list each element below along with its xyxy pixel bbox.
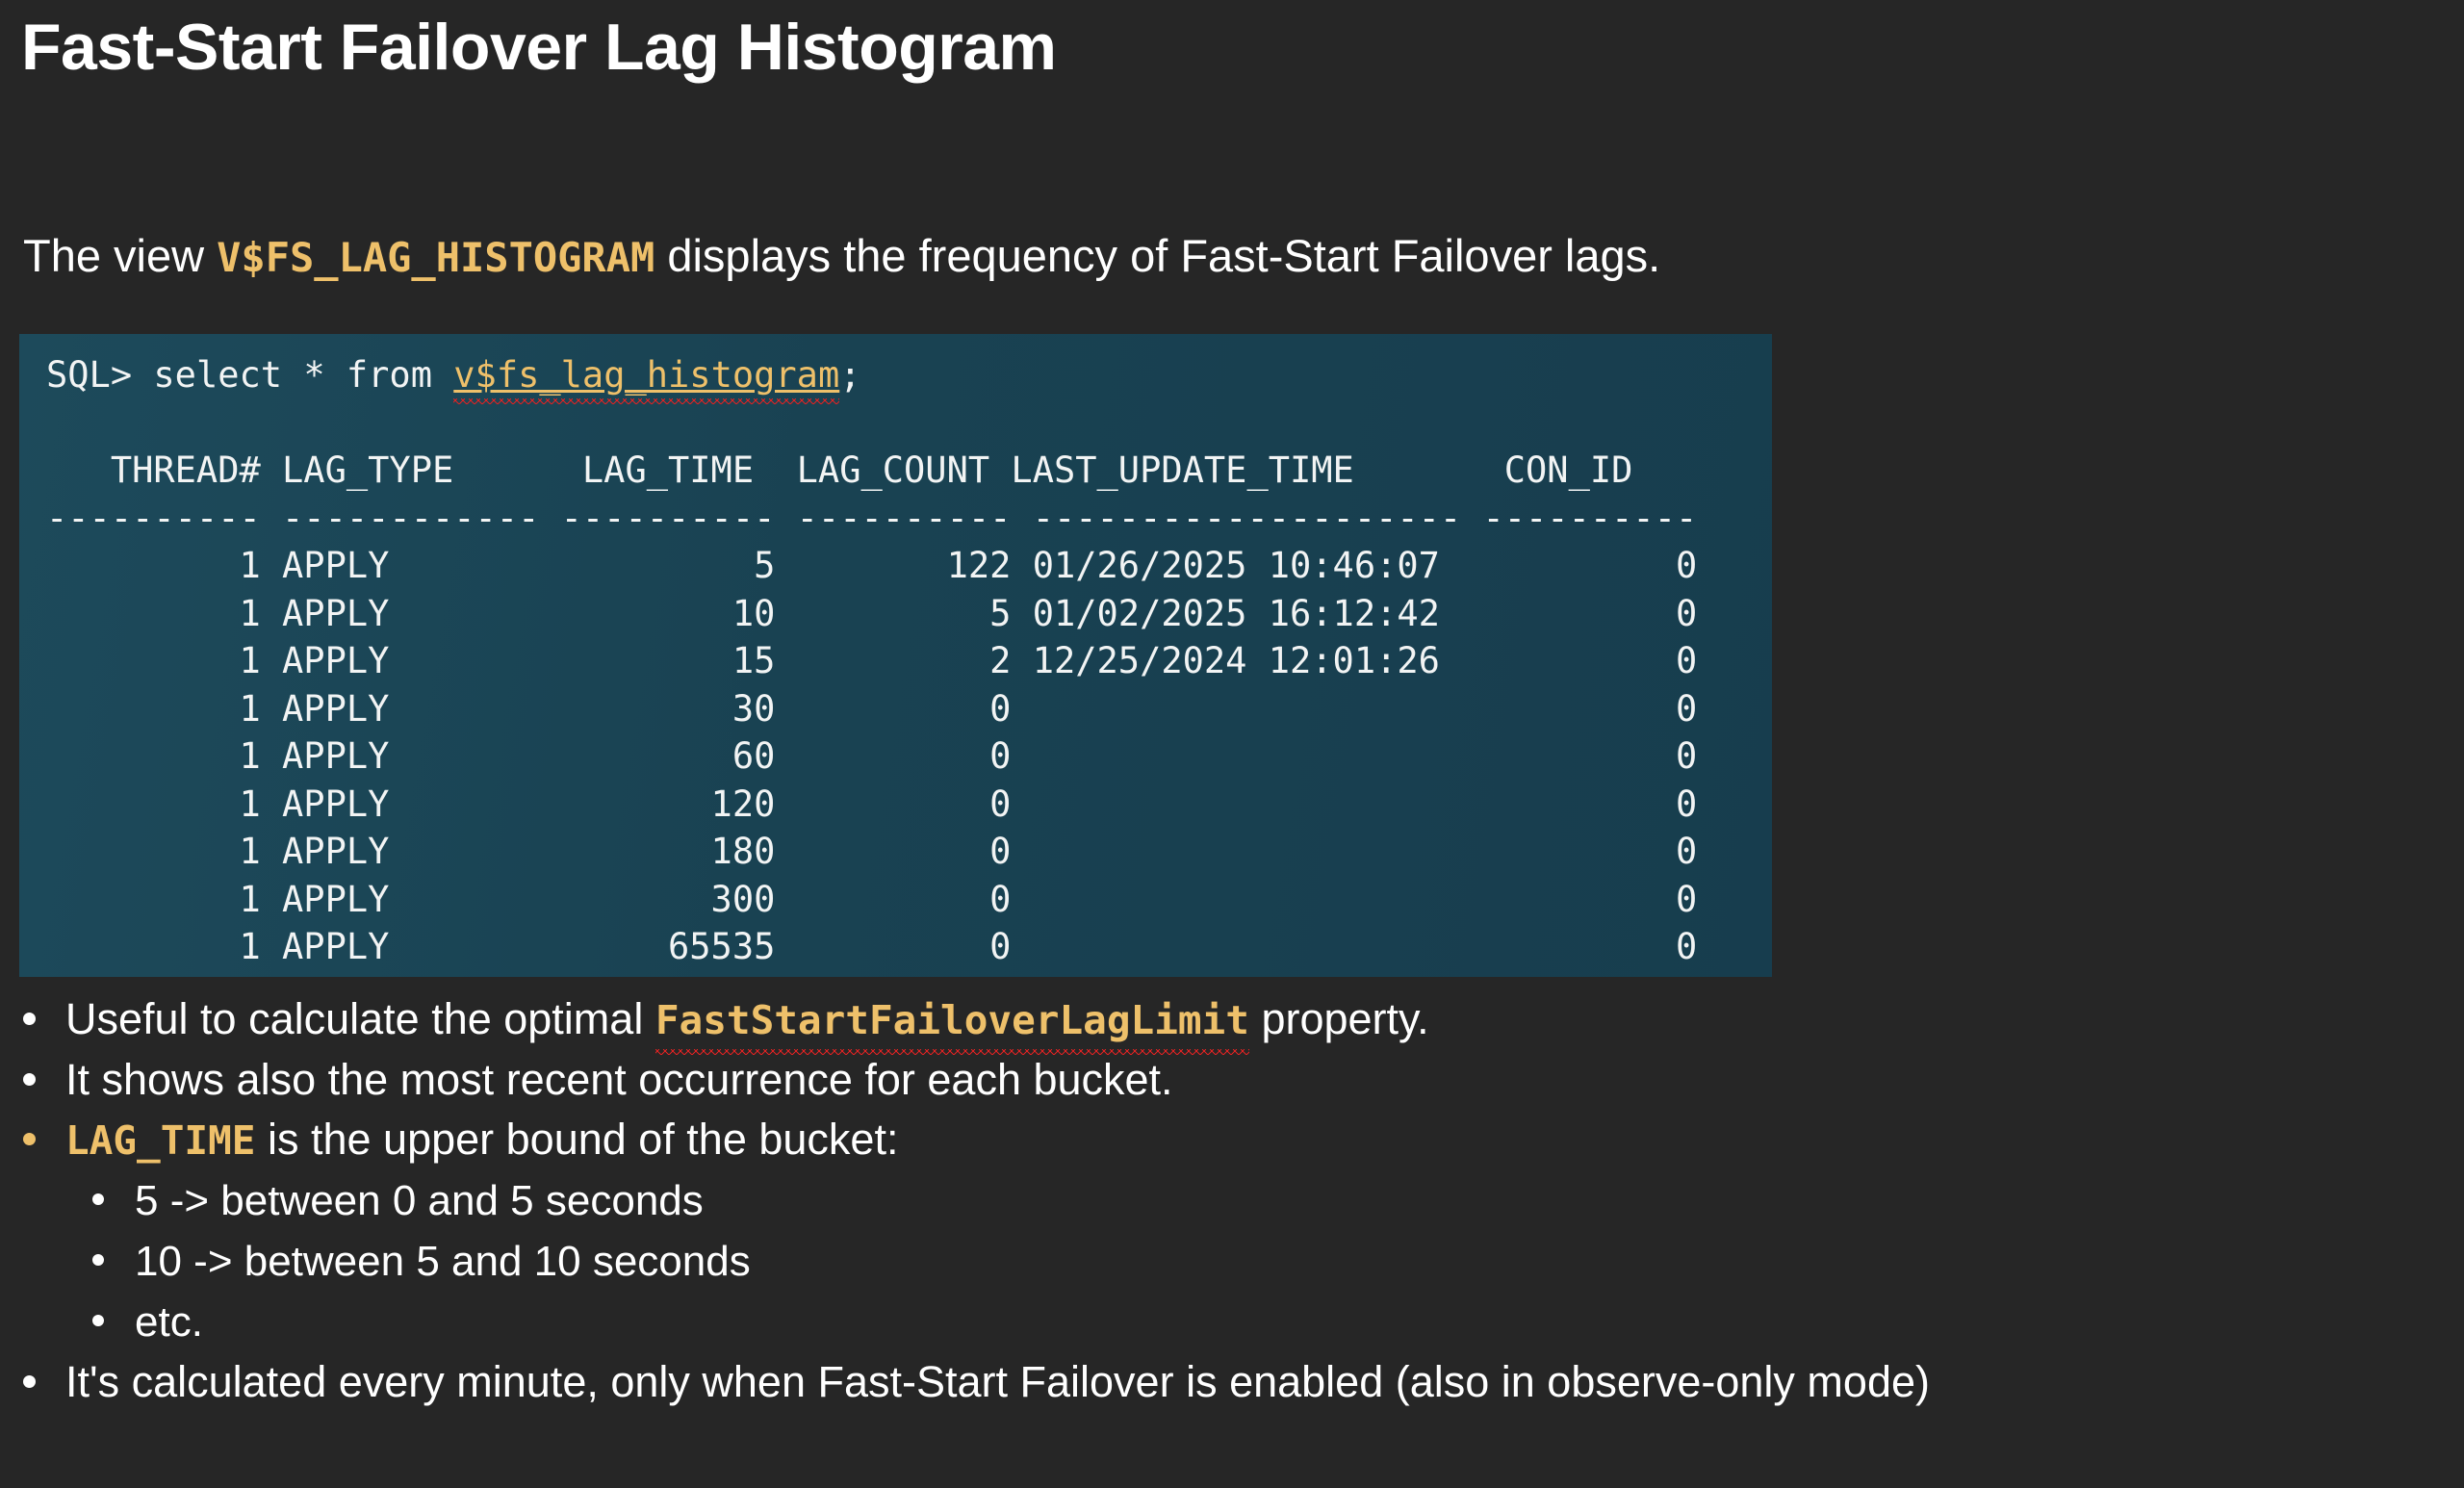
- table-row: 1 APPLY 180 0 0: [19, 828, 1772, 876]
- bullet-marker-icon: [23, 1352, 65, 1412]
- bullet-marker-icon: [23, 1050, 65, 1110]
- intro-text-after: displays the frequency of Fast-Start Fai…: [654, 230, 1660, 281]
- sql-terminal-block: SQL> select * from v$fs_lag_histogram; T…: [19, 334, 1772, 977]
- sub-bullet-item-bucket-5: 5 -> between 0 and 5 seconds: [23, 1170, 2449, 1231]
- bullet-text-before: Useful to calculate the optimal: [65, 994, 655, 1043]
- bullet-text-after: is the upper bound of the bucket:: [255, 1115, 898, 1164]
- table-row: 1 APPLY 120 0 0: [19, 781, 1772, 829]
- sql-command-line: SQL> select * from v$fs_lag_histogram;: [19, 351, 1772, 399]
- property-name-code: FastStartFailoverLagLimit: [655, 990, 1249, 1050]
- bullet-item-recent-occurrence: It shows also the most recent occurrence…: [23, 1050, 2449, 1110]
- bullet-item-optimal-lag-limit: Useful to calculate the optimal FastStar…: [23, 989, 2449, 1050]
- bullet-item-calculation-frequency: It's calculated every minute, only when …: [23, 1352, 2449, 1412]
- bullet-text: Useful to calculate the optimal FastStar…: [65, 989, 2449, 1050]
- bullet-text: etc.: [135, 1292, 2449, 1352]
- table-row: 1 APPLY 300 0 0: [19, 876, 1772, 924]
- table-row: 1 APPLY 60 0 0: [19, 732, 1772, 781]
- bullet-marker-icon: [23, 1110, 65, 1169]
- bullet-text: 10 -> between 5 and 10 seconds: [135, 1231, 2449, 1292]
- view-name-code: V$FS_LAG_HISTOGRAM: [217, 234, 654, 281]
- page-title: Fast-Start Failover Lag Histogram: [21, 10, 1057, 85]
- bullet-list: Useful to calculate the optimal FastStar…: [23, 989, 2449, 1412]
- bullet-text: 5 -> between 0 and 5 seconds: [135, 1170, 2449, 1231]
- table-row: 1 APPLY 10 5 01/02/2025 16:12:42 0: [19, 590, 1772, 638]
- bullet-text: It's calculated every minute, only when …: [65, 1352, 2449, 1412]
- lag-time-column-code: LAG_TIME: [65, 1117, 255, 1164]
- table-row: 1 APPLY 30 0 0: [19, 685, 1772, 733]
- intro-paragraph: The view V$FS_LAG_HISTOGRAM displays the…: [23, 229, 1660, 283]
- bullet-marker-icon: [23, 989, 65, 1049]
- table-row: 1 APPLY 15 2 12/25/2024 12:01:26 0: [19, 637, 1772, 685]
- bullet-text: LAG_TIME is the upper bound of the bucke…: [65, 1110, 2449, 1170]
- bullet-marker-icon: [92, 1170, 135, 1230]
- sub-bullet-item-etc: etc.: [23, 1292, 2449, 1352]
- intro-text-before: The view: [23, 230, 217, 281]
- sql-prompt: SQL>: [46, 354, 153, 396]
- bullet-item-lag-time-upper-bound: LAG_TIME is the upper bound of the bucke…: [23, 1110, 2449, 1170]
- table-row: 1 APPLY 5 122 01/26/2025 10:46:07 0: [19, 542, 1772, 590]
- sql-table-identifier: v$fs_lag_histogram: [453, 351, 839, 399]
- terminal-blank-line-1: [19, 399, 1772, 448]
- sub-bullet-item-bucket-10: 10 -> between 5 and 10 seconds: [23, 1231, 2449, 1292]
- table-row: 1 APPLY 65535 0 0: [19, 923, 1772, 971]
- bullet-marker-icon: [92, 1292, 135, 1351]
- sql-command-after: ;: [839, 354, 860, 396]
- bullet-text-after: property.: [1249, 994, 1429, 1043]
- sql-command-before: select * from: [153, 354, 453, 396]
- bullet-marker-icon: [92, 1231, 135, 1291]
- table-header-row: THREAD# LAG_TYPE LAG_TIME LAG_COUNT LAST…: [19, 447, 1772, 495]
- slide-root: Fast-Start Failover Lag Histogram The vi…: [0, 0, 2464, 1488]
- bullet-text: It shows also the most recent occurrence…: [65, 1050, 2449, 1110]
- table-separator-row: ---------- ------------ ---------- -----…: [19, 495, 1772, 543]
